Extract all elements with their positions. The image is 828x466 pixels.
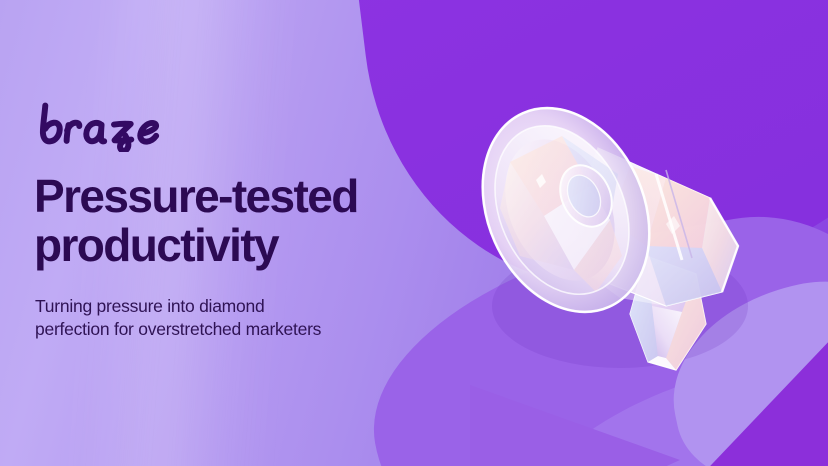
crystal-megaphone-illustration bbox=[470, 70, 800, 390]
page-subtitle: Turning pressure into diamond perfection… bbox=[35, 295, 455, 342]
page-title: Pressure-tested productivity bbox=[34, 172, 494, 270]
promo-banner: Pressure-tested productivity Turning pre… bbox=[0, 0, 828, 466]
braze-wordmark-icon bbox=[36, 100, 231, 152]
crystal-megaphone-icon bbox=[470, 70, 800, 390]
content-block: Pressure-tested productivity Turning pre… bbox=[34, 0, 504, 466]
braze-logo bbox=[36, 100, 231, 152]
